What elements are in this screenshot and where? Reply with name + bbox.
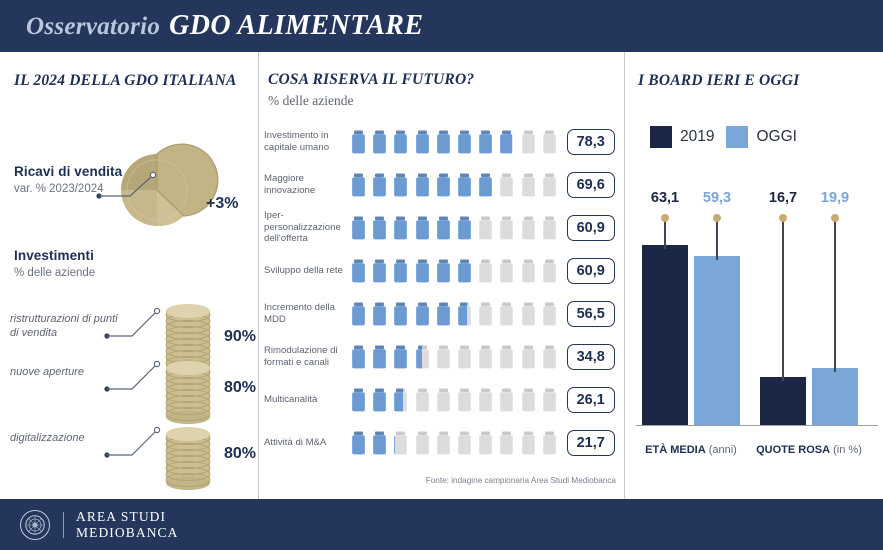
jar-icon <box>477 302 494 326</box>
jar-icon <box>520 302 537 326</box>
chart-category-label: ETÀ MEDIA (anni) <box>634 444 748 456</box>
chart-value-label: 59,3 <box>687 190 747 206</box>
jar-icon <box>498 388 515 412</box>
jar-icon <box>477 173 494 197</box>
jar-icon <box>498 431 515 455</box>
pictogram-icons <box>350 216 558 240</box>
jar-icon <box>371 216 388 240</box>
jar-icon <box>541 130 558 154</box>
footer-brand-line2: MEDIOBANCA <box>76 525 179 541</box>
pictogram-row-label: Incremento della MDD <box>264 302 350 325</box>
jar-icon <box>350 345 367 369</box>
jar-icon <box>477 216 494 240</box>
jar-icon <box>371 216 388 240</box>
jar-icon <box>435 431 452 455</box>
jar-icon <box>520 173 537 197</box>
jar-icon <box>414 130 431 154</box>
jar-icon <box>541 431 558 455</box>
legend-label: OGGI <box>756 128 796 146</box>
pictogram-icons <box>350 259 558 283</box>
jar-icon <box>456 173 473 197</box>
jar-icon <box>371 130 388 154</box>
jar-icon <box>350 431 367 455</box>
jar-icon <box>435 388 452 412</box>
legend-swatch <box>650 126 672 148</box>
jar-icon <box>414 431 431 455</box>
jar-icon <box>392 216 409 240</box>
pictogram-row-label: Investimento in capitale umano <box>264 130 350 153</box>
pictogram-row: Maggiore innovazione69,6 <box>264 163 620 206</box>
jar-icon <box>498 302 515 326</box>
jar-icon <box>435 130 452 154</box>
jar-icon <box>456 345 473 369</box>
jar-icon <box>414 302 431 326</box>
jar-icon <box>520 130 537 154</box>
jar-icon <box>350 302 367 326</box>
jar-icon <box>435 345 452 369</box>
jar-icon <box>498 216 515 240</box>
chart-category-name: ETÀ MEDIA <box>645 444 706 456</box>
jar-icon <box>520 345 537 369</box>
pictogram-row-label: Multicanalità <box>264 394 350 405</box>
jar-icon <box>456 216 473 240</box>
jar-icon <box>520 431 537 455</box>
chart-category-unit: (in %) <box>833 444 862 456</box>
pictogram-row-label: Maggiore innovazione <box>264 173 350 196</box>
jar-icon <box>520 431 537 455</box>
chart-value-stem <box>834 218 836 372</box>
jar-icon <box>435 302 452 326</box>
jar-icon <box>520 388 537 412</box>
jar-icon <box>520 345 537 369</box>
jar-icon <box>435 345 452 369</box>
jar-icon <box>350 259 367 283</box>
bar-chart: 63,159,3ETÀ MEDIA (anni)16,719,9QUOTE RO… <box>632 182 880 472</box>
jar-icon <box>414 130 431 154</box>
pictogram-icons <box>350 431 558 455</box>
jar-icon <box>371 388 388 412</box>
jar-icon <box>541 302 558 326</box>
jar-icon <box>392 345 409 369</box>
investment-item-value: 90% <box>224 328 256 346</box>
legend-label: 2019 <box>680 128 714 146</box>
jar-icon <box>350 259 367 283</box>
jar-icon <box>498 345 515 369</box>
jar-icon <box>477 259 479 283</box>
revenue-value: +3% <box>206 195 238 213</box>
jar-icon <box>392 130 409 154</box>
mediobanca-seal-icon <box>20 510 50 540</box>
chart-value-pin <box>713 214 721 222</box>
jar-icon <box>392 388 409 412</box>
jar-icon <box>435 302 452 326</box>
jar-icon <box>371 431 388 455</box>
jar-icon <box>371 431 388 455</box>
jar-icon <box>392 259 409 283</box>
jar-icon <box>541 302 558 326</box>
jar-icon <box>498 173 515 197</box>
jar-icon <box>477 173 493 197</box>
jar-icon <box>456 130 473 154</box>
jar-icon <box>541 173 558 197</box>
jar-icon <box>477 130 494 154</box>
middle-panel-subtitle: % delle aziende <box>268 93 353 109</box>
pictogram-row: Multicanalità26,1 <box>264 378 620 421</box>
jar-icon <box>350 302 367 326</box>
jar-icon <box>498 431 515 455</box>
pictogram-rows: Investimento in capitale umano78,3Maggio… <box>264 120 620 464</box>
jar-icon <box>350 173 367 197</box>
chart-value-pin <box>661 214 669 222</box>
jar-icon <box>392 302 409 326</box>
pictogram-row: Incremento della MDD56,5 <box>264 292 620 335</box>
jar-icon <box>498 130 512 154</box>
revenue-leader-line <box>96 170 166 202</box>
jar-icon <box>371 173 388 197</box>
pictogram-value-badge: 56,5 <box>567 301 615 327</box>
jar-icon <box>498 345 515 369</box>
pictogram-row-label: Iper-personalizzazione dell'offerta <box>264 210 350 244</box>
pictogram-value-badge: 78,3 <box>567 129 615 155</box>
jar-icon <box>414 388 431 412</box>
jar-icon <box>371 302 388 326</box>
chart-value-label: 19,9 <box>805 190 865 206</box>
investments-subheading: % delle aziende <box>14 267 95 279</box>
jar-icon <box>371 259 388 283</box>
chart-value-pin <box>831 214 839 222</box>
jar-icon <box>541 216 558 240</box>
jar-icon <box>435 431 452 455</box>
jar-icon <box>435 173 452 197</box>
middle-panel: COSA RISERVA IL FUTURO? % delle aziende … <box>258 52 624 499</box>
jar-icon <box>435 216 452 240</box>
pictogram-row: Attività di M&A21,7 <box>264 421 620 464</box>
pictogram-icons <box>350 130 558 154</box>
chart-bar <box>760 377 806 425</box>
pictogram-value-badge: 26,1 <box>567 387 615 413</box>
jar-icon <box>498 216 515 240</box>
pictogram-row-label: Sviluppo della rete <box>264 265 350 276</box>
jar-icon <box>435 259 452 283</box>
page-header: OsservatorioGDO ALIMENTARE <box>0 0 883 52</box>
jar-icon <box>498 130 515 154</box>
pictogram-value-badge: 60,9 <box>567 258 615 284</box>
jar-icon <box>477 345 494 369</box>
jar-icon <box>414 388 431 412</box>
jar-icon <box>350 130 367 154</box>
page-title: GDO ALIMENTARE <box>169 10 423 41</box>
jar-icon <box>414 216 431 240</box>
jar-icon <box>541 345 558 369</box>
jar-icon <box>350 431 367 455</box>
header-brand: Osservatorio <box>26 13 160 40</box>
jar-icon <box>456 216 473 240</box>
jar-icon <box>456 259 473 283</box>
jar-icon <box>498 388 515 412</box>
chart-value-label: 63,1 <box>635 190 695 206</box>
jar-icon <box>477 259 494 283</box>
jar-icon <box>456 345 473 369</box>
jar-icon <box>392 302 409 326</box>
jar-icon <box>498 302 515 326</box>
jar-icon <box>520 388 537 412</box>
jar-icon <box>350 388 367 412</box>
jar-icon <box>541 259 558 283</box>
infographic-page: OsservatorioGDO ALIMENTARE IL 2024 DELLA… <box>0 0 883 550</box>
jar-icon <box>541 216 558 240</box>
pictogram-row-label: Attività di M&A <box>264 437 350 448</box>
chart-bar <box>812 368 858 425</box>
jar-icon <box>541 345 558 369</box>
jar-icon <box>477 345 494 369</box>
jar-icon <box>414 216 431 240</box>
jar-icon <box>414 173 431 197</box>
jar-icon <box>477 130 494 154</box>
right-panel-title: I BOARD IERI E OGGI <box>638 72 799 90</box>
investments-heading: Investimenti <box>14 248 94 263</box>
jar-icon <box>371 345 388 369</box>
source-note: Fonte: indagine campionaria Area Studi M… <box>426 476 616 485</box>
coin-stack-icon <box>158 357 218 429</box>
chart-value-stem <box>664 218 666 249</box>
jar-icon <box>392 130 409 154</box>
pictogram-value-badge: 69,6 <box>567 172 615 198</box>
pictogram-row: Rimodulazione di formati e canali34,8 <box>264 335 620 378</box>
pictogram-icons <box>350 302 558 326</box>
chart-value-pin <box>779 214 787 222</box>
jar-icon <box>456 302 467 326</box>
pictogram-row: Investimento in capitale umano78,3 <box>264 120 620 163</box>
jar-icon <box>350 173 367 197</box>
page-footer: AREA STUDI MEDIOBANCA <box>0 499 883 550</box>
jar-icon <box>435 388 452 412</box>
chart-value-stem <box>716 218 718 260</box>
jar-icon <box>392 173 409 197</box>
jar-icon <box>414 302 431 326</box>
jar-icon <box>350 130 367 154</box>
chart-category-name: QUOTE ROSA <box>756 444 830 456</box>
jar-icon <box>477 259 494 283</box>
footer-brand: AREA STUDI MEDIOBANCA <box>76 509 179 541</box>
jar-icon <box>350 216 367 240</box>
chart-category-label: QUOTE ROSA (in %) <box>752 444 866 456</box>
legend-item-2019: 2019 <box>650 126 714 148</box>
jar-icon <box>520 216 537 240</box>
jar-icon <box>456 388 473 412</box>
chart-category-unit: (anni) <box>709 444 737 456</box>
jar-icon <box>414 345 431 369</box>
pictogram-value-badge: 21,7 <box>567 430 615 456</box>
jar-icon <box>392 388 402 412</box>
jar-icon <box>520 259 537 283</box>
jar-icon <box>520 302 537 326</box>
jar-icon <box>414 431 431 455</box>
jar-icon <box>456 130 473 154</box>
footer-divider <box>63 512 64 538</box>
jar-icon <box>414 345 422 369</box>
jar-icon <box>350 345 367 369</box>
jar-icon <box>392 431 409 455</box>
jar-icon <box>456 388 473 412</box>
jar-icon <box>435 259 452 283</box>
middle-panel-title: COSA RISERVA IL FUTURO? <box>268 71 474 89</box>
chart-legend: 2019 OGGI <box>650 126 797 148</box>
jar-icon <box>520 259 537 283</box>
investment-item-value: 80% <box>224 445 256 463</box>
jar-icon <box>498 259 515 283</box>
footer-brand-line1: AREA STUDI <box>76 509 179 525</box>
jar-icon <box>477 216 494 240</box>
chart-bar <box>694 256 740 425</box>
chart-value-stem <box>782 218 784 381</box>
chart-baseline <box>636 425 878 426</box>
jar-icon <box>520 130 537 154</box>
jar-icon <box>477 216 479 240</box>
legend-swatch <box>726 126 748 148</box>
jar-icon <box>392 431 395 455</box>
jar-icon <box>477 431 494 455</box>
jar-icon <box>414 173 431 197</box>
chart-value-label: 16,7 <box>753 190 813 206</box>
jar-icon <box>541 130 558 154</box>
jar-icon <box>456 259 473 283</box>
pictogram-row: Iper-personalizzazione dell'offerta60,9 <box>264 206 620 249</box>
jar-icon <box>414 259 431 283</box>
jar-icon <box>371 388 388 412</box>
jar-icon <box>371 302 388 326</box>
jar-icon <box>456 173 473 197</box>
left-panel: IL 2024 DELLA GDO ITALIANA Ricavi di ven… <box>0 52 258 499</box>
jar-icon <box>541 431 558 455</box>
pictogram-value-badge: 60,9 <box>567 215 615 241</box>
pictogram-icons <box>350 388 558 412</box>
jar-icon <box>477 388 494 412</box>
jar-icon <box>392 259 409 283</box>
jar-icon <box>371 130 388 154</box>
jar-icon <box>456 302 473 326</box>
jar-icon <box>435 216 452 240</box>
jar-icon <box>350 388 367 412</box>
coin-stack-icon <box>158 423 218 495</box>
jar-icon <box>477 302 494 326</box>
revenue-subheading: var. % 2023/2024 <box>14 183 104 195</box>
jar-icon <box>456 431 473 455</box>
jar-icon <box>477 388 494 412</box>
jar-icon <box>392 216 409 240</box>
jar-icon <box>541 388 558 412</box>
jar-icon <box>541 388 558 412</box>
pictogram-icons <box>350 173 558 197</box>
jar-icon <box>350 216 367 240</box>
jar-icon <box>541 259 558 283</box>
pictogram-row: Sviluppo della rete60,9 <box>264 249 620 292</box>
jar-icon <box>456 431 473 455</box>
jar-icon <box>520 173 537 197</box>
jar-icon <box>392 345 409 369</box>
left-panel-title: IL 2024 DELLA GDO ITALIANA <box>14 72 237 90</box>
jar-icon <box>435 173 452 197</box>
jar-icon <box>477 431 494 455</box>
jar-icon <box>371 173 388 197</box>
pictogram-row-label: Rimodulazione di formati e canali <box>264 345 350 368</box>
chart-bar <box>642 245 688 425</box>
header-title-group: OsservatorioGDO ALIMENTARE <box>0 10 423 42</box>
investment-item-value: 80% <box>224 379 256 397</box>
jar-icon <box>498 259 515 283</box>
pictogram-icons <box>350 345 558 369</box>
jar-icon <box>498 173 515 197</box>
jar-icon <box>371 345 388 369</box>
jar-icon <box>541 173 558 197</box>
jar-icon <box>392 173 409 197</box>
right-panel: I BOARD IERI E OGGI 2019 OGGI 63,159,3ET… <box>624 52 883 499</box>
jar-icon <box>435 130 452 154</box>
jar-icon <box>414 259 431 283</box>
legend-item-oggi: OGGI <box>726 126 796 148</box>
pictogram-value-badge: 34,8 <box>567 344 615 370</box>
jar-icon <box>520 216 537 240</box>
jar-icon <box>371 259 388 283</box>
